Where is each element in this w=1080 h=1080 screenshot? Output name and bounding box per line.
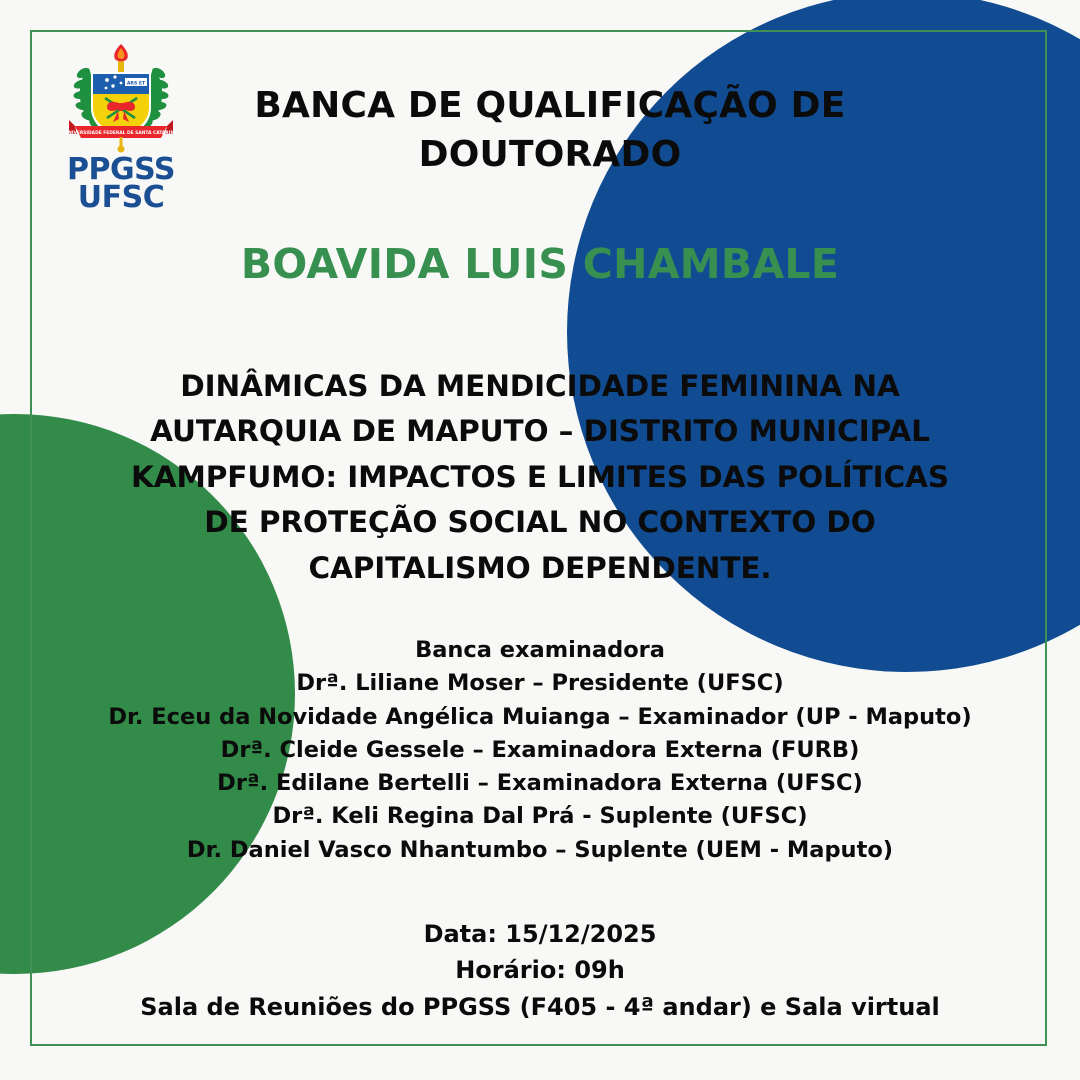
svg-text:ARS ET: ARS ET xyxy=(127,80,146,86)
ppgss-ufsc-logo: ARS ET UNIVERSID xyxy=(46,42,196,212)
examining-board: Banca examinadora Drª. Liliane Moser – P… xyxy=(40,634,1040,867)
qualification-announcement-poster: ARS ET UNIVERSID xyxy=(0,0,1080,1080)
page-title: BANCA DE QUALIFICAÇÃO DE DOUTORADO xyxy=(200,82,900,179)
thesis-title: DINÂMICAS DA MENDICIDADE FEMININA NA AUT… xyxy=(106,364,974,591)
session-time: Horário: 09h xyxy=(40,952,1040,988)
session-details: Data: 15/12/2025 Horário: 09h Sala de Re… xyxy=(40,916,1040,1025)
candidate-name: BOAVIDA LUIS CHAMBALE xyxy=(0,240,1080,288)
page-title-line2: DOUTORADO xyxy=(419,134,682,175)
board-member: Drª. Cleide Gessele – Examinadora Extern… xyxy=(40,734,1040,767)
page-title-line1: BANCA DE QUALIFICAÇÃO DE xyxy=(254,85,845,126)
session-date: Data: 15/12/2025 xyxy=(40,916,1040,952)
session-location: Sala de Reuniões do PPGSS (F405 - 4ª and… xyxy=(40,989,1040,1025)
board-member: Drª. Liliane Moser – Presidente (UFSC) xyxy=(40,667,1040,700)
ufsc-crest-icon: ARS ET UNIVERSID xyxy=(63,42,179,154)
board-member: Drª. Keli Regina Dal Prá - Suplente (UFS… xyxy=(40,800,1040,833)
poster-content: ARS ET UNIVERSID xyxy=(0,0,1080,1080)
examining-board-heading: Banca examinadora xyxy=(40,634,1040,667)
board-member: Drª. Edilane Bertelli – Examinadora Exte… xyxy=(40,767,1040,800)
svg-text:UNIVERSIDADE FEDERAL DE SANTA: UNIVERSIDADE FEDERAL DE SANTA CATARINA xyxy=(65,130,178,136)
logo-wordmark: PPGSS UFSC xyxy=(46,156,196,212)
board-member: Dr. Daniel Vasco Nhantumbo – Suplente (U… xyxy=(40,834,1040,867)
board-member: Dr. Eceu da Novidade Angélica Muianga – … xyxy=(40,701,1040,734)
logo-wordmark-line2: UFSC xyxy=(46,184,196,212)
